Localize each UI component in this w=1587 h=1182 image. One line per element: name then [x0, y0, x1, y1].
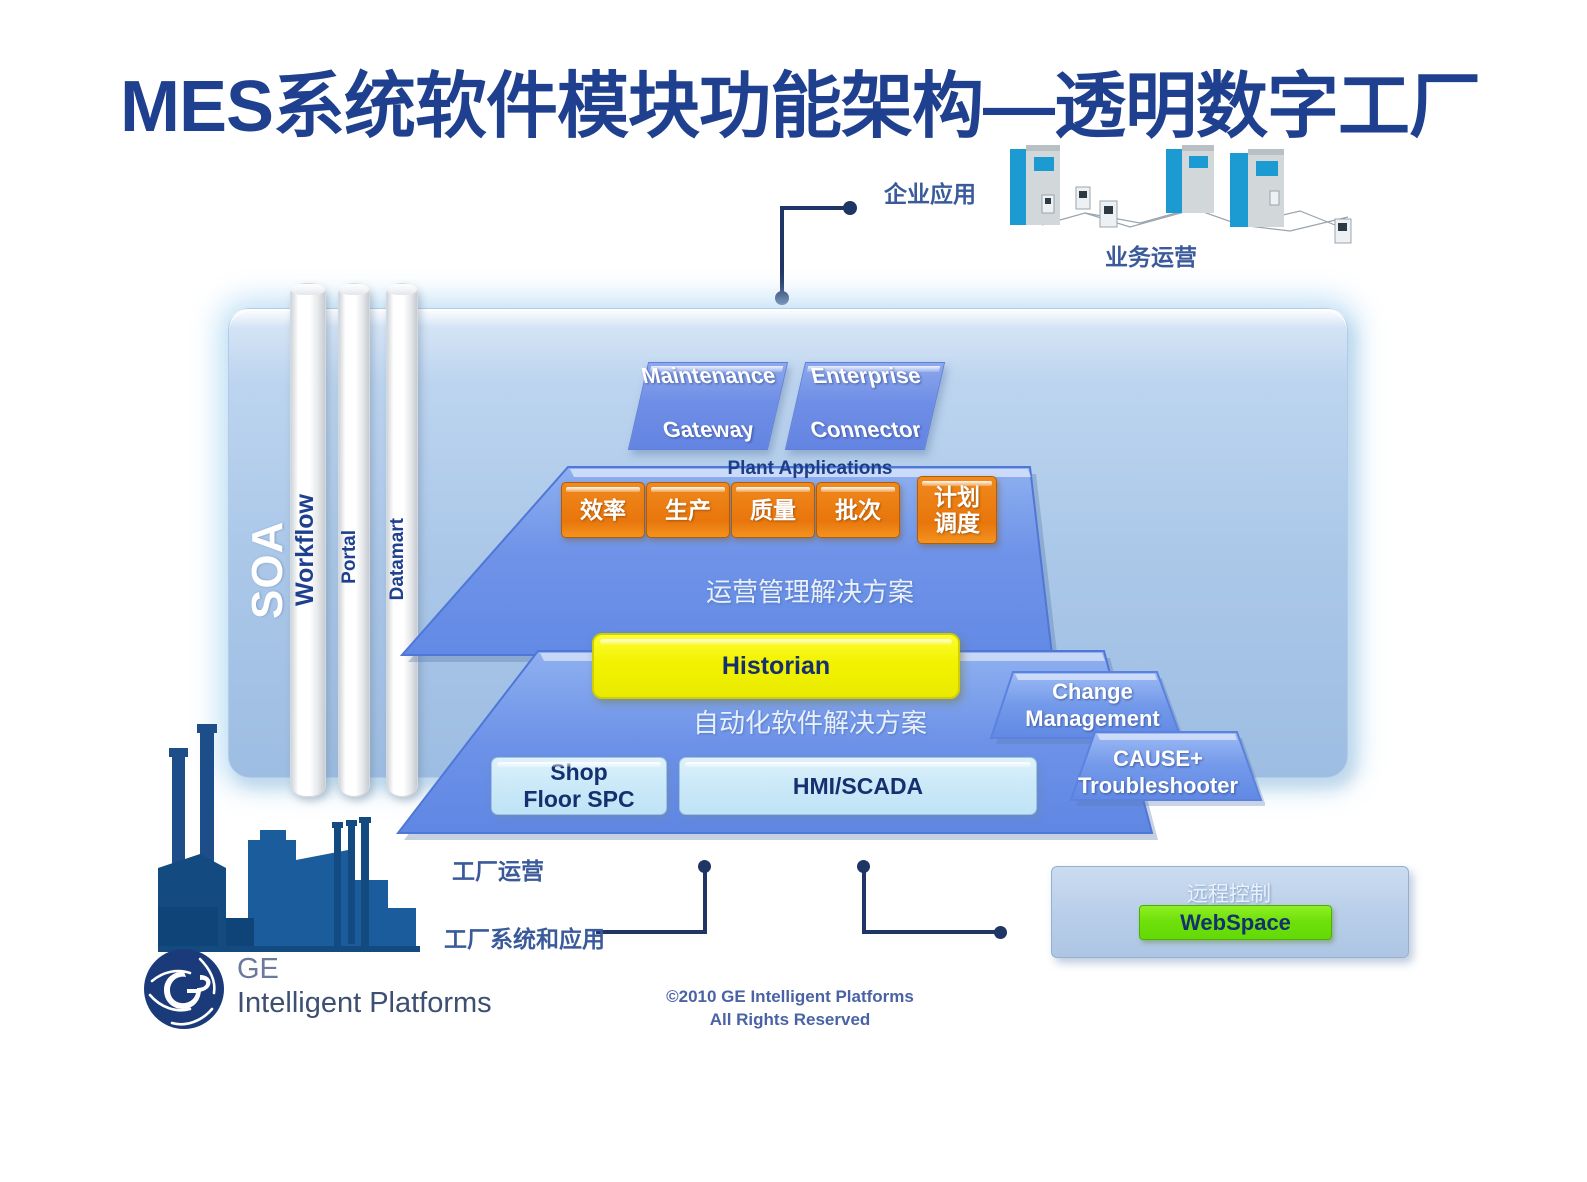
module-planning-scheduling[interactable]: 计划 调度	[917, 476, 997, 544]
parallelogram-enterprise-connector[interactable]: Enterprise Connector	[785, 362, 945, 450]
plant-applications-label: Plant Applications	[660, 458, 960, 480]
connector-enterprise-dot-bottom	[775, 291, 789, 305]
factory-silhouette-illustration	[148, 722, 438, 954]
parallelogram-maintenance-gateway[interactable]: Maintenance Gateway	[628, 362, 788, 450]
connector-plantops-horizontal	[596, 930, 707, 934]
connector-remote-vertical	[862, 866, 866, 934]
label-enterprise-application: 企业应用	[884, 175, 976, 209]
connector-enterprise-horizontal	[780, 206, 850, 210]
cylinder-workflow-label: Workflow	[291, 494, 325, 606]
change-line1: Change	[1052, 679, 1133, 704]
webspace-button[interactable]: WebSpace	[1139, 905, 1332, 940]
module-quality[interactable]: 质量	[731, 482, 815, 538]
cause-line1: CAUSE+	[1113, 746, 1203, 771]
trapezoid-change-management[interactable]: Change Management	[1010, 678, 1175, 732]
ge-brand-line1: GE	[237, 952, 492, 986]
enterprise-line1: Enterprise	[808, 362, 924, 389]
connector-enterprise-vertical	[780, 206, 784, 298]
spc-line2: Floor SPC	[523, 786, 634, 812]
server-racks-illustration	[990, 135, 1360, 250]
remote-control-title: 远程控制	[1051, 878, 1407, 908]
cylinder-portal[interactable]: Portal	[338, 283, 370, 797]
cause-line2: Troubleshooter	[1078, 773, 1238, 798]
connector-plantops-dot	[698, 860, 711, 873]
module-batch[interactable]: 批次	[816, 482, 900, 538]
ge-brand-wordmark: GE Intelligent Platforms	[237, 952, 492, 1020]
connector-remote-dot-right	[994, 926, 1007, 939]
planning-line1: 计划	[934, 484, 980, 510]
copyright-notice: ©2010 GE Intelligent Platforms All Right…	[600, 985, 980, 1031]
connector-remote-dot-top	[857, 860, 870, 873]
module-efficiency[interactable]: 效率	[561, 482, 645, 538]
historian-box[interactable]: Historian	[592, 633, 960, 699]
label-plant-operations: 工厂运营	[452, 852, 544, 886]
label-plant-systems-applications: 工厂系统和应用	[444, 920, 605, 954]
connector-plantops-vertical	[703, 866, 707, 934]
trapezoid-cause-troubleshooter[interactable]: CAUSE+ Troubleshooter	[1068, 745, 1248, 799]
maintenance-line2: Gateway	[639, 416, 778, 443]
planning-line2: 调度	[934, 510, 980, 536]
box-hmi-scada[interactable]: HMI/SCADA	[679, 757, 1037, 815]
connector-enterprise-dot-right	[843, 201, 857, 215]
ge-brand-line2: Intelligent Platforms	[237, 986, 492, 1020]
caption-automation-solution: 自动化软件解决方案	[600, 703, 1020, 740]
label-business-operations: 业务运营	[1105, 238, 1197, 272]
copyright-line2: All Rights Reserved	[600, 1008, 980, 1031]
module-production[interactable]: 生产	[646, 482, 730, 538]
box-shop-floor-spc[interactable]: Shop Floor SPC	[491, 757, 667, 815]
copyright-line1: ©2010 GE Intelligent Platforms	[600, 985, 980, 1008]
caption-operations-solution: 运营管理解决方案	[600, 572, 1020, 609]
enterprise-line2: Connector	[808, 416, 924, 443]
cylinder-portal-label: Portal	[339, 530, 369, 584]
cylinder-workflow[interactable]: Workflow	[290, 283, 326, 797]
ge-logo-icon	[142, 947, 226, 1031]
connector-remote-horizontal	[862, 930, 1004, 934]
maintenance-line1: Maintenance	[639, 362, 778, 389]
change-line2: Management	[1025, 706, 1159, 731]
spc-line1: Shop	[550, 759, 608, 785]
